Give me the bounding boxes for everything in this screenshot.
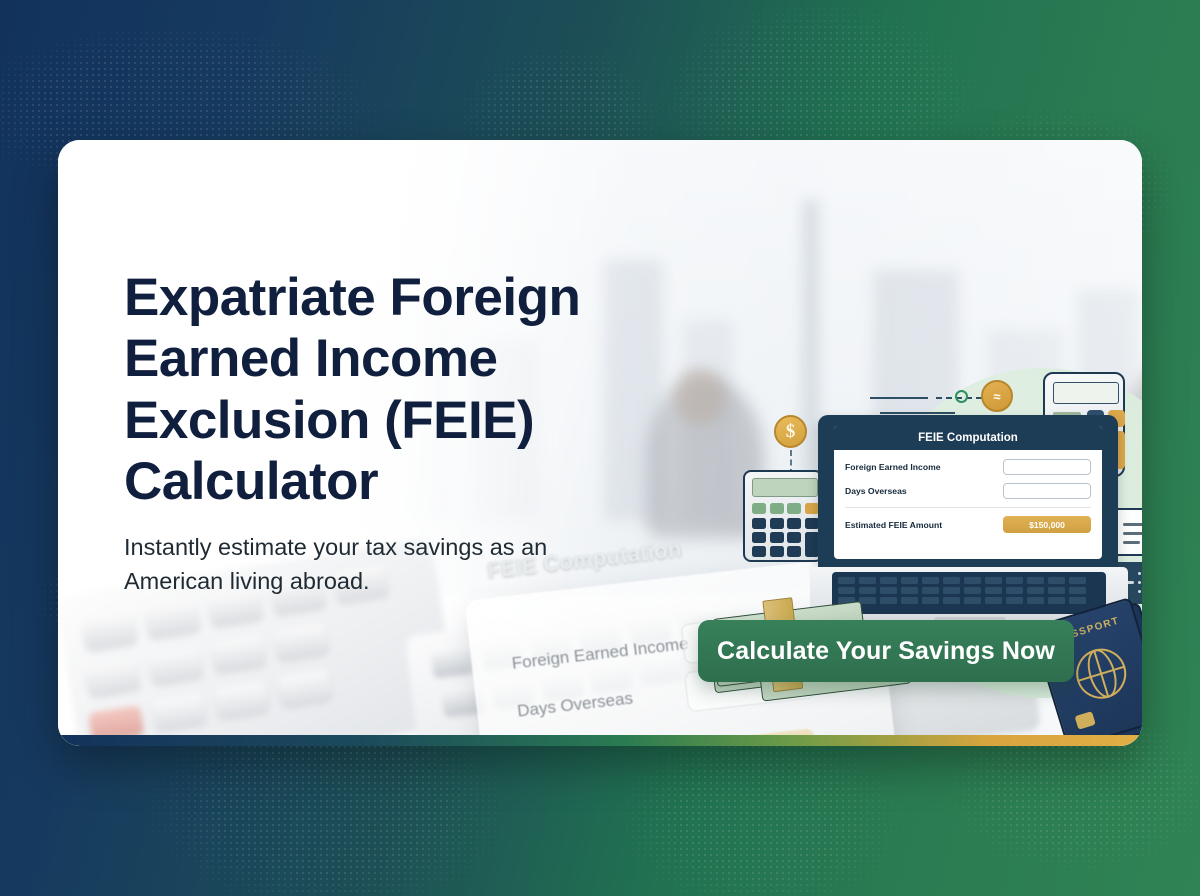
coin-dollar-icon: $	[774, 415, 807, 448]
feie-estimated-amount-value: $150,000	[1003, 516, 1091, 533]
decor-line	[870, 397, 928, 399]
feie-form-row-days: Days Overseas	[845, 483, 1091, 499]
small-ring-icon	[955, 390, 968, 403]
feie-form-divider	[845, 507, 1091, 508]
feie-input-days-overseas[interactable]	[1003, 483, 1091, 499]
decor-line	[880, 412, 955, 414]
gold-badge-icon: ≈	[981, 380, 1013, 412]
bottom-accent-bar	[58, 735, 1142, 746]
feie-form-row-result: Estimated FEIE Amount $150,000	[845, 516, 1091, 533]
feie-input-foreign-earned-income[interactable]	[1003, 459, 1091, 475]
feie-form-title: FEIE Computation	[834, 426, 1102, 450]
calculate-savings-button[interactable]: Calculate Your Savings Now	[698, 620, 1074, 682]
hero-card: FEIE Computation Foreign Earned Income D…	[58, 140, 1142, 746]
feie-label-estimated-amount: Estimated FEIE Amount	[845, 520, 942, 530]
page-subtitle: Instantly estimate your tax savings as a…	[124, 530, 594, 598]
page-title: Expatriate Foreign Earned Income Exclusi…	[124, 267, 654, 513]
feie-form-row-income: Foreign Earned Income	[845, 459, 1091, 475]
feie-label-days-overseas: Days Overseas	[845, 486, 907, 496]
illustration-cluster: + ≈ $	[658, 350, 1142, 746]
feie-label-foreign-earned-income: Foreign Earned Income	[845, 462, 941, 472]
laptop-screen: FEIE Computation Foreign Earned Income D…	[834, 426, 1102, 559]
